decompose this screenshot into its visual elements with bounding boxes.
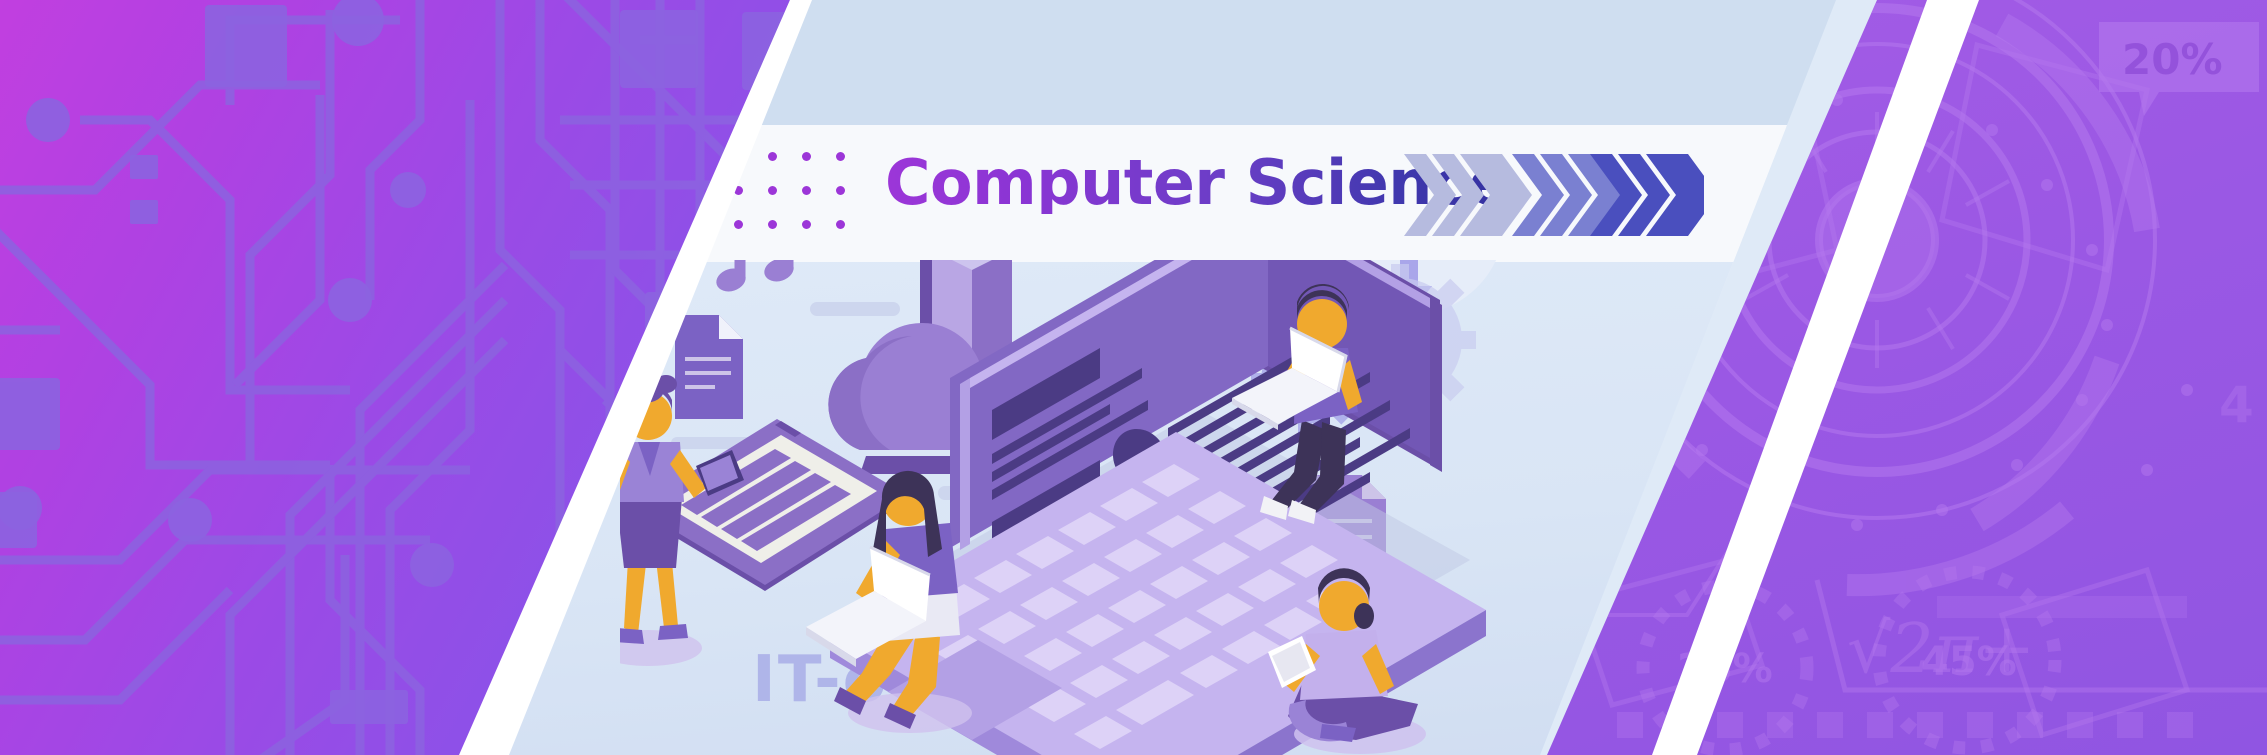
edge-number-4: 4 — [2219, 376, 2254, 434]
formula-sqrt-2pi: √2π+ — [1847, 610, 2035, 689]
document-icon-small — [671, 315, 757, 449]
music-note-icon — [713, 260, 796, 295]
isometric-it-education-scene — [620, 260, 1680, 755]
badge-20-percent: 20% — [2099, 22, 2259, 116]
chevron-arrows — [1404, 152, 1704, 238]
chevron-group-light — [1404, 154, 1532, 236]
banner-stage: 25% 45% 20% e · ds √x √2π+ — [0, 0, 2267, 755]
svg-text:20%: 20% — [2122, 35, 2223, 84]
